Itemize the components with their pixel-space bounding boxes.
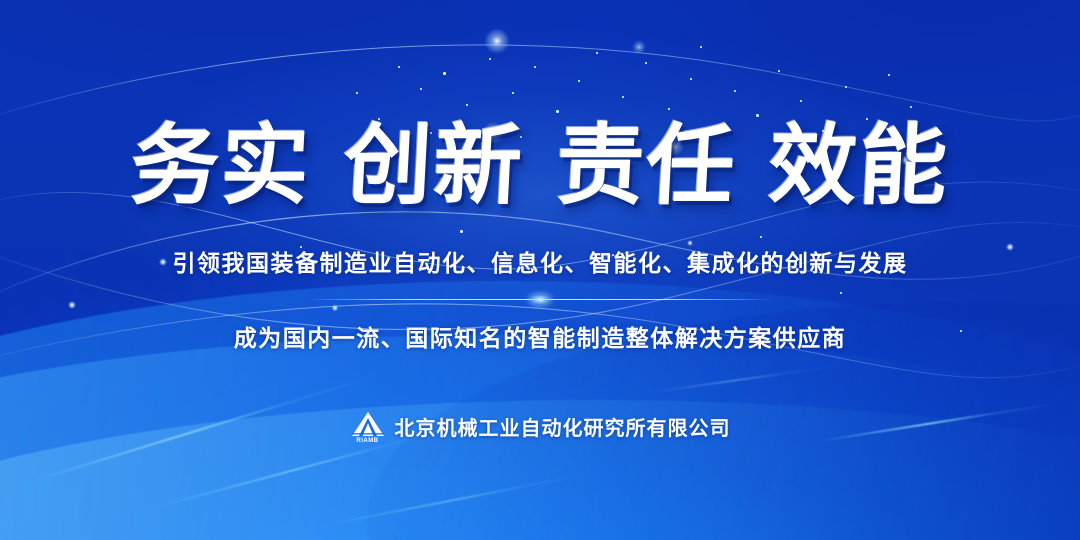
subtitle-block: 引领我国装备制造业自动化、信息化、智能化、集成化的创新与发展 成为国内一流、国际… <box>173 244 908 353</box>
promotional-banner: 务实 创新 责任 效能 引领我国装备制造业自动化、信息化、智能化、集成化的创新与… <box>0 0 1080 540</box>
triangle-mountain-logo-icon: RIAMB <box>350 408 386 444</box>
diamond-ornament-icon <box>529 294 551 305</box>
subtitle-line-1: 引领我国装备制造业自动化、信息化、智能化、集成化的创新与发展 <box>173 244 908 278</box>
logo-mark <box>351 411 385 437</box>
logo-abbreviation: RIAMB <box>356 438 378 444</box>
brand-lockup: RIAMB 北京机械工业自动化研究所有限公司 <box>350 408 731 444</box>
company-name: 北京机械工业自动化研究所有限公司 <box>395 412 731 441</box>
poster-content: 务实 创新 责任 效能 引领我国装备制造业自动化、信息化、智能化、集成化的创新与… <box>0 0 1080 540</box>
subtitle-line-2: 成为国内一流、国际知名的智能制造整体解决方案供应商 <box>234 319 847 353</box>
divider <box>305 292 775 306</box>
page-title: 务实 创新 责任 效能 <box>129 122 952 210</box>
